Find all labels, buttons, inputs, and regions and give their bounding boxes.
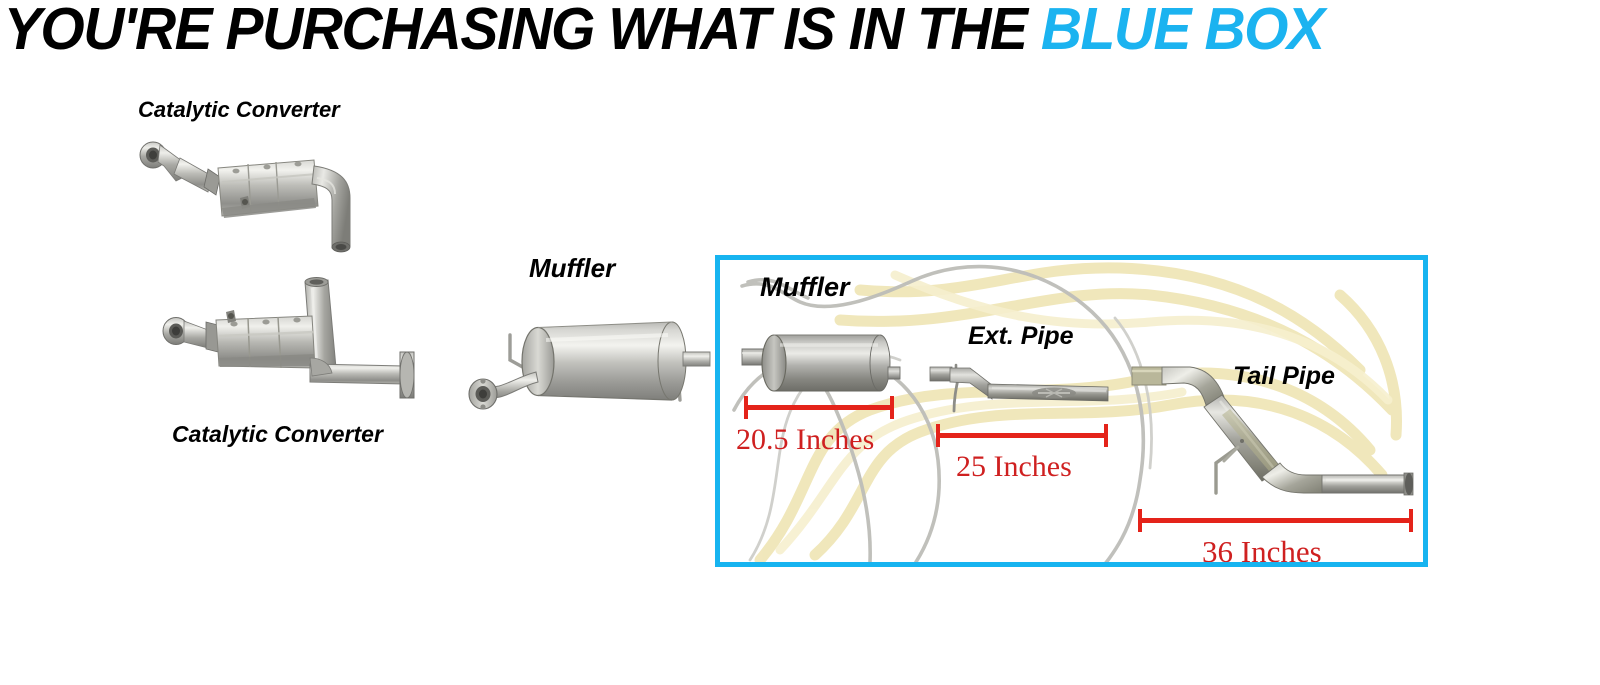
catalytic-converter-top-image [136, 136, 360, 254]
diagram-canvas: YOU'RE PURCHASING WHAT IS IN THE BLUE BO… [0, 0, 1600, 685]
label-catalytic-converter-top: Catalytic Converter [138, 97, 340, 123]
dimension-line-tail-pipe [1138, 518, 1413, 523]
dimension-line-ext-pipe [936, 433, 1108, 438]
muffler-outside-image [466, 300, 712, 416]
dimension-label-tail-pipe: 36 Inches [1202, 534, 1322, 567]
dimension-label-ext-pipe: 25 Inches [956, 450, 1072, 484]
muffler-in-box-image [740, 327, 900, 397]
page-title-blue-text: BLUE BOX [1041, 0, 1324, 62]
ext-pipe-image [930, 365, 1110, 427]
label-muffler-in-box: Muffler [760, 272, 850, 303]
tail-pipe-image [1132, 365, 1414, 505]
catalytic-converter-bottom-image [160, 272, 440, 417]
page-title: YOU'RE PURCHASING WHAT IS IN THE BLUE BO… [0, 0, 1548, 60]
dimension-label-muffler: 20.5 Inches [736, 423, 874, 457]
label-ext-pipe: Ext. Pipe [968, 322, 1074, 351]
label-muffler-outside: Muffler [529, 253, 615, 284]
page-title-black-text: YOU'RE PURCHASING WHAT IS IN THE [4, 0, 1041, 62]
dimension-line-muffler [744, 405, 894, 410]
blue-box: Muffler [715, 255, 1428, 567]
label-catalytic-converter-bottom: Catalytic Converter [172, 421, 383, 448]
